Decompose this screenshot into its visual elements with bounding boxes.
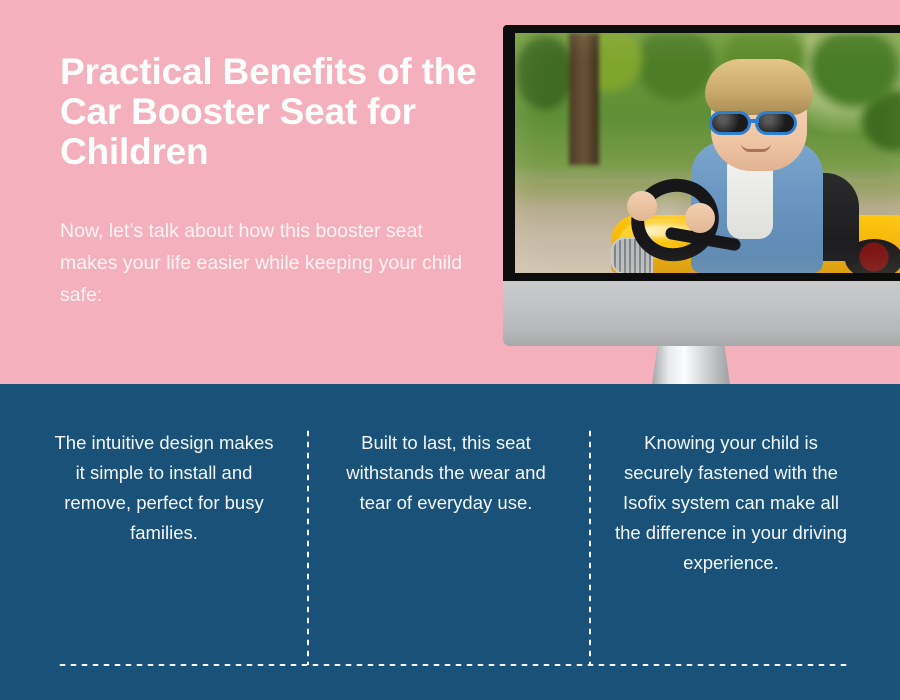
- dotted-divider-vertical-1: [306, 428, 310, 665]
- dotted-divider-vertical-2: [588, 428, 592, 665]
- page-title: Practical Benefits of the Car Booster Se…: [60, 52, 480, 172]
- benefit-column-isofix-security: Knowing your child is securely fastened …: [612, 428, 850, 578]
- benefits-section: The intuitive design makes it simple to …: [0, 384, 900, 700]
- hero-section: Practical Benefits of the Car Booster Se…: [0, 0, 900, 384]
- benefit-column-durability: Built to last, this seat withstands the …: [330, 428, 562, 518]
- benefit-column-ease-of-install: The intuitive design makes it simple to …: [48, 428, 280, 548]
- monitor-chin: [503, 281, 900, 346]
- photo-warm-glow-overlay: [515, 33, 900, 273]
- monitor-screen: [515, 33, 900, 273]
- monitor-stand-neck: [651, 346, 731, 384]
- monitor-bezel: [503, 25, 900, 281]
- dotted-divider-horizontal: [57, 663, 847, 667]
- monitor-illustration: [503, 25, 900, 375]
- hero-subcopy: Now, let’s talk about how this booster s…: [60, 215, 470, 311]
